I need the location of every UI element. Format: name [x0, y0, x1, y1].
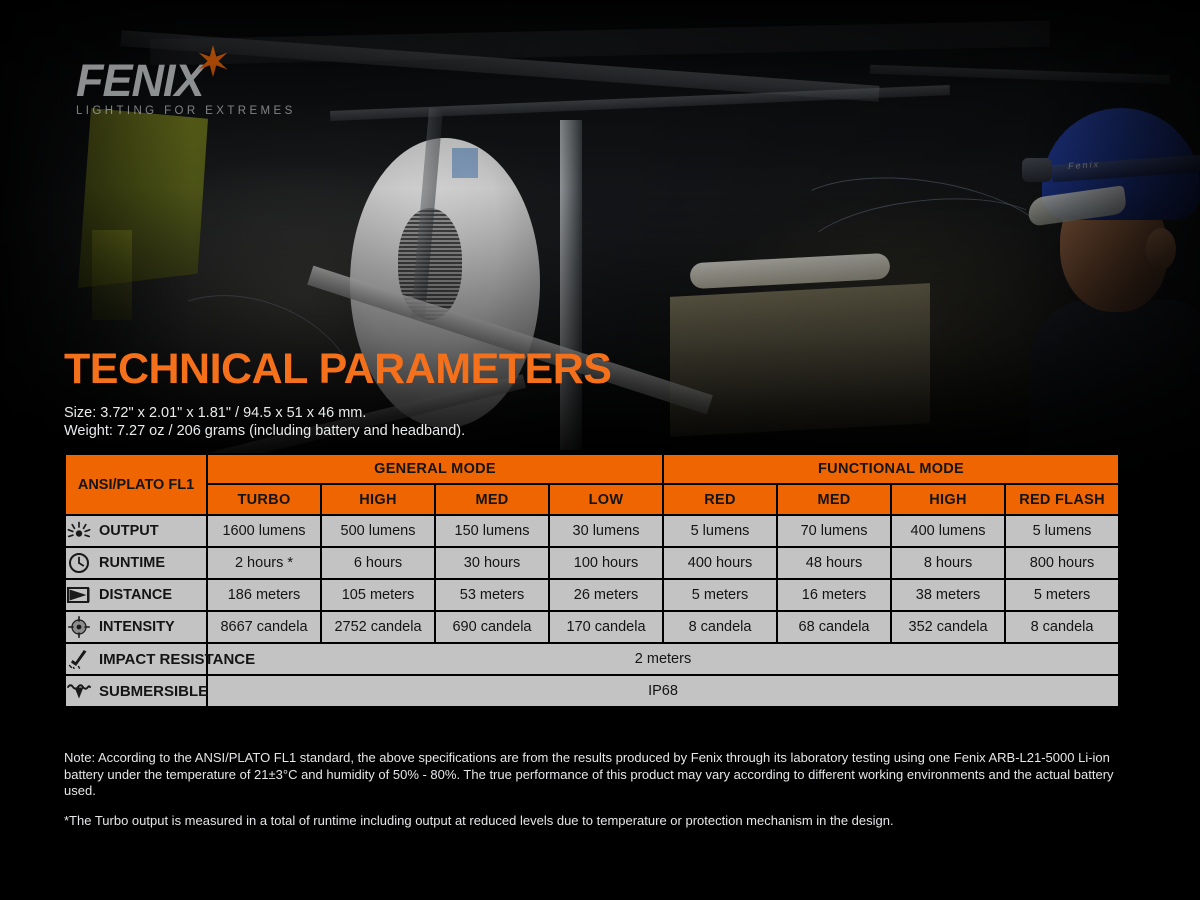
table-row: INTENSITY 8667 candela 2752 candela 690 …: [65, 611, 1119, 643]
crosshair-intensity-icon: [66, 616, 92, 638]
row-label-text: INTENSITY: [99, 619, 175, 635]
mode-header-red-flash: RED FLASH: [1005, 484, 1119, 515]
cell-distance-func-high: 38 meters: [891, 579, 1005, 611]
size-line: Size: 3.72" x 2.01" x 1.81" / 94.5 x 51 …: [64, 404, 465, 422]
table-row: SUBMERSIBLE IP68: [65, 675, 1119, 707]
beam-distance-icon: [66, 584, 92, 606]
cell-intensity-red-flash: 8 candela: [1005, 611, 1119, 643]
mode-header-high: HIGH: [321, 484, 435, 515]
cell-runtime-func-med: 48 hours: [777, 547, 891, 579]
row-label-text: SUBMERSIBLE: [99, 683, 208, 700]
note-standard: Note: According to the ANSI/PLATO FL1 st…: [64, 750, 1124, 800]
table-header-group-row: ANSI/PLATO FL1 GENERAL MODE FUNCTIONAL M…: [65, 454, 1119, 484]
table-row: IMPACT RESISTANCE 2 meters: [65, 643, 1119, 675]
mode-header-func-high: HIGH: [891, 484, 1005, 515]
cell-intensity-low: 170 candela: [549, 611, 663, 643]
cell-output-med: 150 lumens: [435, 515, 549, 547]
row-label-intensity: INTENSITY: [65, 611, 207, 643]
cell-runtime-red-flash: 800 hours: [1005, 547, 1119, 579]
size-weight-block: Size: 3.72" x 2.01" x 1.81" / 94.5 x 51 …: [64, 404, 465, 440]
cell-runtime-high: 6 hours: [321, 547, 435, 579]
table-row: RUNTIME 2 hours * 6 hours 30 hours 100 h…: [65, 547, 1119, 579]
page-title: TECHNICAL PARAMETERS: [64, 346, 611, 392]
cell-runtime-func-high: 8 hours: [891, 547, 1005, 579]
cell-output-low: 30 lumens: [549, 515, 663, 547]
row-label-text: RUNTIME: [99, 555, 165, 571]
cell-distance-turbo: 186 meters: [207, 579, 321, 611]
cell-output-turbo: 1600 lumens: [207, 515, 321, 547]
cell-output-func-med: 70 lumens: [777, 515, 891, 547]
mode-header-turbo: TURBO: [207, 484, 321, 515]
row-label-distance: DISTANCE: [65, 579, 207, 611]
cell-runtime-low: 100 hours: [549, 547, 663, 579]
row-label-submersible: SUBMERSIBLE: [65, 675, 207, 707]
cell-output-high: 500 lumens: [321, 515, 435, 547]
cell-impact-resistance-value: 2 meters: [207, 643, 1119, 675]
cell-intensity-turbo: 8667 candela: [207, 611, 321, 643]
mode-header-med: MED: [435, 484, 549, 515]
submersible-wave-icon: [66, 680, 92, 702]
cell-submersible-value: IP68: [207, 675, 1119, 707]
cell-output-red: 5 lumens: [663, 515, 777, 547]
cell-runtime-turbo: 2 hours *: [207, 547, 321, 579]
row-label-impact-resistance: IMPACT RESISTANCE: [65, 643, 207, 675]
mode-header-red: RED: [663, 484, 777, 515]
cell-intensity-med: 690 candela: [435, 611, 549, 643]
cell-runtime-red: 400 hours: [663, 547, 777, 579]
mode-header-low: LOW: [549, 484, 663, 515]
fenix-logo: FENIX LIGHTING FOR EXTREMES: [76, 58, 326, 120]
cell-distance-red-flash: 5 meters: [1005, 579, 1119, 611]
cell-output-red-flash: 5 lumens: [1005, 515, 1119, 547]
clock-icon: [66, 552, 92, 574]
row-label-output: OUTPUT: [65, 515, 207, 547]
cell-intensity-func-high: 352 candela: [891, 611, 1005, 643]
impact-drop-icon: [66, 648, 92, 670]
cell-runtime-med: 30 hours: [435, 547, 549, 579]
cell-output-func-high: 400 lumens: [891, 515, 1005, 547]
sunburst-icon: [66, 520, 92, 542]
row-label-text: DISTANCE: [99, 587, 172, 603]
row-label-text: IMPACT RESISTANCE: [99, 651, 255, 668]
cell-distance-red: 5 meters: [663, 579, 777, 611]
star-icon: [196, 44, 230, 78]
weight-line: Weight: 7.27 oz / 206 grams (including b…: [64, 422, 465, 440]
table-row: DISTANCE 186 meters 105 meters 53 meters…: [65, 579, 1119, 611]
cell-distance-med: 53 meters: [435, 579, 549, 611]
row-label-runtime: RUNTIME: [65, 547, 207, 579]
cell-distance-func-med: 16 meters: [777, 579, 891, 611]
group-header-functional: FUNCTIONAL MODE: [663, 454, 1119, 484]
technical-parameters-table: ANSI/PLATO FL1 GENERAL MODE FUNCTIONAL M…: [64, 453, 1120, 708]
table-header-mode-row: TURBO HIGH MED LOW RED MED HIGH RED FLAS…: [65, 484, 1119, 515]
note-turbo-asterisk: *The Turbo output is measured in a total…: [64, 813, 1124, 830]
cell-intensity-high: 2752 candela: [321, 611, 435, 643]
row-label-text: OUTPUT: [99, 523, 159, 539]
ansi-plato-label: ANSI/PLATO FL1: [65, 454, 207, 515]
cell-distance-low: 26 meters: [549, 579, 663, 611]
table-row: OUTPUT 1600 lumens 500 lumens 150 lumens…: [65, 515, 1119, 547]
cell-intensity-func-med: 68 candela: [777, 611, 891, 643]
mode-header-func-med: MED: [777, 484, 891, 515]
cell-intensity-red: 8 candela: [663, 611, 777, 643]
group-header-general: GENERAL MODE: [207, 454, 663, 484]
notes-block: Note: According to the ANSI/PLATO FL1 st…: [64, 750, 1124, 829]
logo-tagline: LIGHTING FOR EXTREMES: [76, 105, 326, 117]
cell-distance-high: 105 meters: [321, 579, 435, 611]
